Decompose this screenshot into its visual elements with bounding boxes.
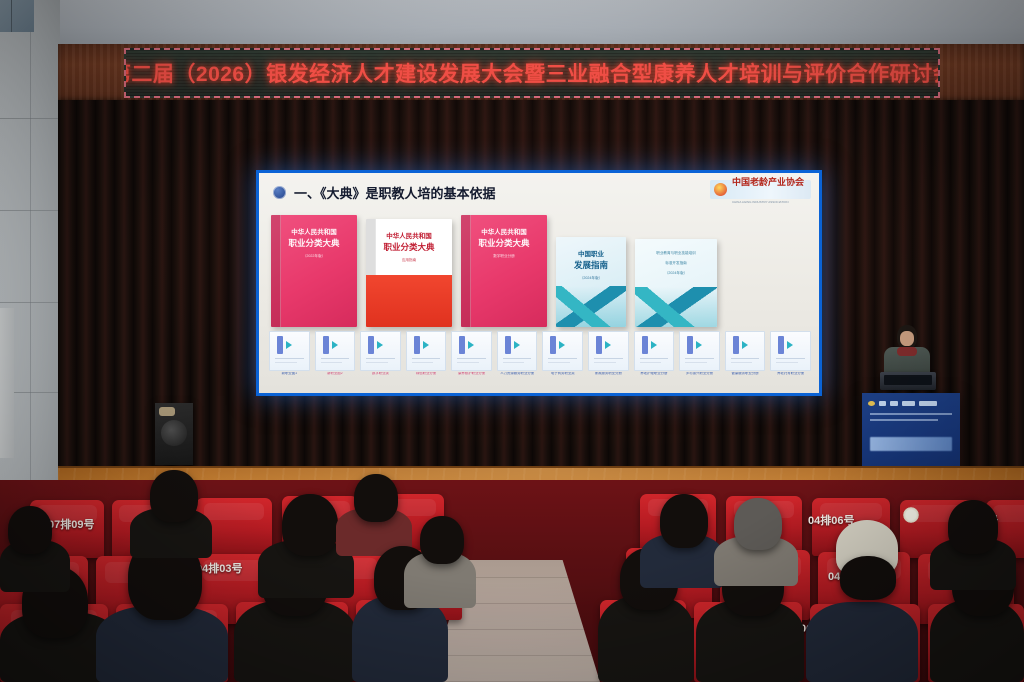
hair-flower	[902, 506, 920, 524]
slide-card	[269, 331, 310, 371]
book-title-line2: 发展指南	[574, 260, 608, 271]
book-title-line2: 职业分类大典	[383, 242, 434, 253]
book-cover: 中华人民共和国 职业分类大典 应用指南	[366, 219, 452, 327]
slide-card	[725, 331, 766, 371]
book-title-line1: 中华人民共和国	[291, 229, 337, 238]
association-emblem-icon	[714, 183, 727, 196]
left-wall	[0, 0, 60, 500]
slide-card	[360, 331, 401, 371]
led-banner-text: 第二届（2026）银发经济人才建设发展大会暨三业融合型康养人才培训与评价合作研讨…	[124, 58, 940, 88]
slide-caption: 绿色职业分册	[406, 372, 447, 375]
slide-card-row	[269, 331, 811, 371]
audience-member	[734, 498, 782, 550]
slide-caption: 健康服务职业分册	[725, 372, 766, 375]
association-logo-subtext: CHINA AGING INDUSTRY ASSOCIATION	[732, 200, 789, 204]
conference-hall-photo: 第二届（2026）银发经济人才建设发展大会暨三业融合型康养人才培训与评价合作研讨…	[0, 0, 1024, 682]
globe-icon	[273, 186, 286, 199]
book-title-line2: 职业分类大典	[288, 238, 339, 249]
slide-card	[497, 331, 538, 371]
audience-member	[8, 506, 52, 554]
slide-caption-row: 新职业图1 新职业图2 数字职业类 绿色职业分册 康养照护职业分册 人力资源服务…	[269, 372, 811, 375]
corner-window	[0, 0, 34, 32]
slide-card	[451, 331, 492, 371]
book-subtitle: 应用指南	[402, 258, 416, 263]
book-title-line2: 标准开发指南	[665, 261, 687, 266]
audience-member	[806, 602, 918, 682]
book-subtitle: 数字职业分册	[493, 254, 515, 259]
slide-surface: 一、《大典》是职教人培的基本依据 中国老龄产业协会 CHINA AGING IN…	[259, 173, 819, 393]
slide-card	[588, 331, 629, 371]
slide-card	[770, 331, 811, 371]
slide-caption: 人力资源服务职业分册	[497, 372, 538, 375]
seat-number: 07排09号	[48, 516, 94, 532]
association-logo-text: 中国老龄产业协会	[732, 177, 804, 187]
projection-screen: 一、《大典》是职教人培的基本依据 中国老龄产业协会 CHINA AGING IN…	[256, 170, 822, 396]
association-logo: 中国老龄产业协会 CHINA AGING INDUSTRY ASSOCIATIO…	[710, 180, 811, 199]
audience-member	[660, 494, 708, 548]
book-title-line1: 中华人民共和国	[481, 229, 527, 238]
book-cover: 中国职业 发展指南 （2024年版）	[556, 237, 626, 327]
slide-card	[315, 331, 356, 371]
book-title-line1: 中国职业	[578, 251, 604, 260]
podium-sponsor-logos	[868, 400, 954, 407]
book-cover: 职业教育与职业技能培训 标准开发指南 （2024年版）	[635, 239, 717, 327]
slide-caption: 数字职业类	[360, 372, 401, 375]
slide-caption: 养老护理职业分册	[634, 372, 675, 375]
book-row: 中华人民共和国 职业分类大典 （2022年版） 中华人民共和国 职业分类大典 应…	[271, 213, 809, 327]
led-banner: 第二届（2026）银发经济人才建设发展大会暨三业融合型康养人才培训与评价合作研讨…	[124, 48, 940, 98]
ceiling	[0, 0, 1024, 46]
audience-member	[150, 470, 198, 522]
book-subtitle: （2022年版）	[303, 254, 325, 259]
slide-header: 一、《大典》是职教人培的基本依据	[273, 183, 496, 202]
slide-caption: 乡村振兴职业分册	[679, 372, 720, 375]
audience-member	[282, 494, 338, 556]
slide-caption: 新职业图2	[315, 372, 356, 375]
slide-caption: 养老托育职业分册	[770, 372, 811, 375]
side-door	[0, 308, 14, 458]
podium-title-graphic	[870, 437, 952, 451]
audience-member	[420, 516, 464, 564]
slide-title: 一、《大典》是职教人培的基本依据	[294, 183, 496, 202]
audience-member	[354, 474, 398, 522]
slide-caption: 家政服务职业分册	[588, 372, 629, 375]
slide-caption: 新职业图1	[269, 372, 310, 375]
slide-caption: 电子商务职业类	[542, 372, 583, 375]
slide-caption: 康养照护职业分册	[451, 372, 492, 375]
book-title-line1: 职业教育与职业技能培训	[656, 251, 696, 256]
slide-card	[542, 331, 583, 371]
slide-card	[679, 331, 720, 371]
audience-member	[840, 556, 896, 600]
presenter-laptop	[880, 372, 936, 390]
slide-card	[634, 331, 675, 371]
seat-number: 04排03号	[196, 560, 242, 576]
book-subtitle: （2024年版）	[665, 271, 687, 276]
slide-card	[406, 331, 447, 371]
book-cover: 中华人民共和国 职业分类大典 数字职业分册	[461, 215, 547, 327]
pa-speaker-cabinet	[155, 403, 193, 465]
book-title-line2: 职业分类大典	[478, 238, 529, 249]
audience-member	[948, 500, 998, 554]
book-subtitle: （2024年版）	[580, 276, 602, 281]
book-title-line1: 中华人民共和国	[386, 233, 432, 242]
book-cover: 中华人民共和国 职业分类大典 （2022年版）	[271, 215, 357, 327]
